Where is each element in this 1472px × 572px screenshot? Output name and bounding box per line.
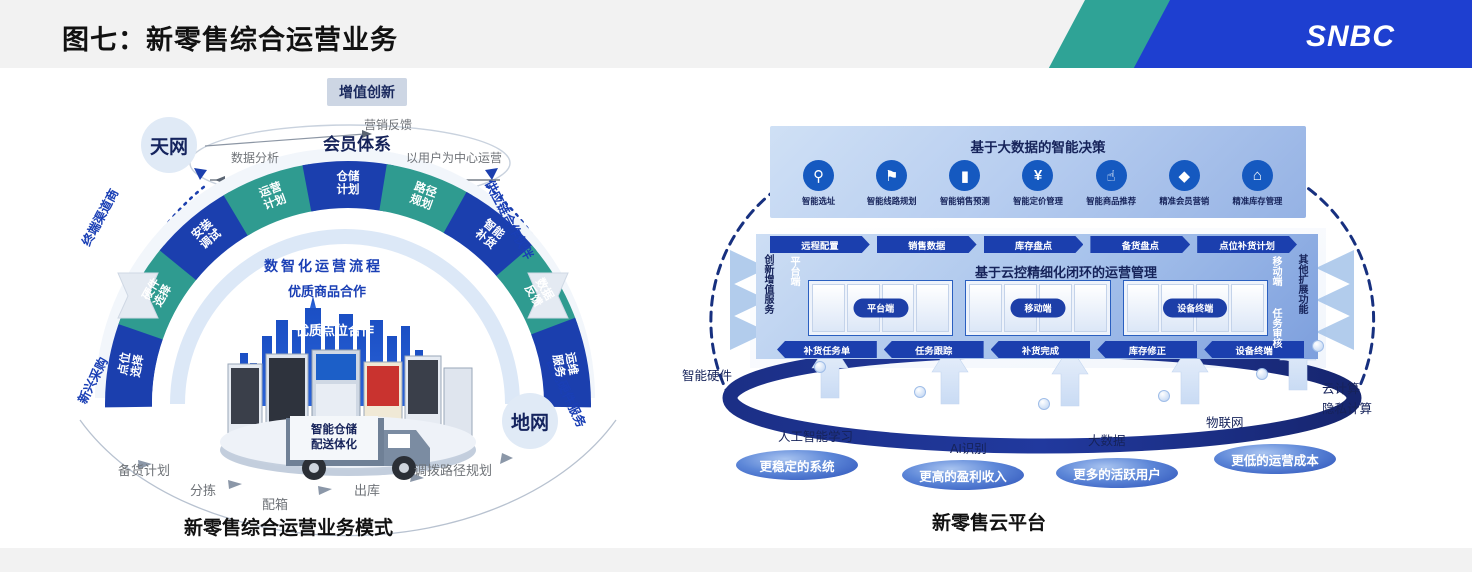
screen-mockup[interactable]: 设备终端 (1123, 280, 1268, 336)
node-dot-cloud (1312, 340, 1324, 352)
screen-mockup-label: 移动端 (1010, 299, 1065, 318)
flow-step-bottom[interactable]: 补货任务单 (777, 341, 877, 358)
decision-icon-label: 智能定价管理 (1001, 195, 1074, 207)
member-badge-icon: ◆ (1169, 160, 1200, 191)
location-pin-icon: ⚲ (803, 160, 834, 191)
smart-warehouse-badge: 智能仓储 配送体化 (290, 416, 378, 460)
smart-warehouse-line2: 配送体化 (311, 438, 357, 453)
decision-icon-label: 智能选址 (782, 195, 855, 207)
right-diagram: 基于大数据的智能决策 ⚲智能选址⚑智能线路规划▮智能销售预测¥智能定价管理☝智能… (660, 68, 1472, 548)
side-label-platform-side: 平台端 (786, 256, 801, 286)
tech-label-iot: 物联网 (1206, 412, 1244, 431)
benefit-lower-ops-cost[interactable]: 更低的运营成本 (1214, 444, 1336, 474)
flow-bottom-bar: 设备终端库存修正补货完成任务跟踪补货任务单 (770, 341, 1304, 358)
flow-step-top[interactable]: 远程配置 (770, 236, 870, 253)
flow-step-bottom[interactable]: 补货完成 (991, 341, 1091, 358)
tech-label-cloud-computing: 云计算 (1322, 378, 1360, 397)
big-data-decision-panel: 基于大数据的智能决策 ⚲智能选址⚑智能线路规划▮智能销售预测¥智能定价管理☝智能… (770, 126, 1306, 218)
bottom-flow-transfer-route: 调拨路径规划 (414, 460, 492, 479)
flow-user-centric-ops: 以用户为中心运营 (406, 149, 502, 166)
flow-step-top[interactable]: 销售数据 (877, 236, 977, 253)
cloud-ops-title: 基于云控精细化闭环的运营管理 (660, 262, 1472, 281)
route-pins-icon: ⚑ (876, 160, 907, 191)
node-dot-ai-recognition (1038, 398, 1050, 410)
ground-net-circle: 地网 (502, 393, 558, 449)
right-diagram-caption: 新零售云平台 (932, 508, 1046, 535)
side-label-task-review: 任务审核 (1268, 308, 1283, 348)
member-system-label: 会员体系 (323, 130, 391, 155)
tech-label-ai-learning: 人工智能学习 (778, 426, 853, 445)
side-label-mobile-side: 移动端 (1268, 256, 1283, 286)
decision-icon-label: 精准会员营销 (1148, 195, 1221, 207)
decision-icon-item[interactable]: ¥智能定价管理 (1001, 160, 1074, 207)
decision-icon-item[interactable]: ⌂精准库存管理 (1221, 160, 1294, 207)
decision-icon-item[interactable]: ⚲智能选址 (782, 160, 855, 207)
bar-chart-icon: ▮ (949, 160, 980, 191)
ring-label-site-cooperation: 优质点位合作 (296, 320, 374, 339)
decision-icon-label: 精准库存管理 (1221, 195, 1294, 207)
bottom-flow-outbound: 出库 (354, 480, 380, 499)
bottom-flow-boxing: 配箱 (262, 494, 288, 513)
left-diagram-caption: 新零售综合运营业务模式 (184, 513, 393, 540)
flow-step-bottom[interactable]: 任务跟踪 (884, 341, 984, 358)
flow-marketing-feedback: 营销反馈 (364, 116, 412, 133)
tech-label-smart-hardware: 智能硬件 (682, 365, 732, 384)
page-title: 图七：新零售综合运营业务 (62, 18, 398, 57)
decision-icon-row: ⚲智能选址⚑智能线路规划▮智能销售预测¥智能定价管理☝智能商品推荐◆精准会员营销… (770, 160, 1306, 207)
flow-step-top[interactable]: 备货盘点 (1090, 236, 1190, 253)
screens-row: 平台端移动端设备终端 (808, 280, 1268, 336)
benefit-stable-system[interactable]: 更稳定的系统 (736, 450, 858, 480)
page-header: 图七：新零售综合运营业务 SNBC (0, 0, 1472, 68)
flow-step-top[interactable]: 库存盘点 (984, 236, 1084, 253)
flow-step-bottom[interactable]: 设备终端 (1204, 341, 1304, 358)
screen-mockup[interactable]: 平台端 (808, 280, 953, 336)
decision-icon-label: 智能销售预测 (928, 195, 1001, 207)
snbc-logo: SNBC (1306, 20, 1395, 54)
tech-label-big-data: 大数据 (1088, 430, 1126, 449)
decision-icon-item[interactable]: ☝智能商品推荐 (1075, 160, 1148, 207)
tech-label-privacy-computing: 隐私计算 (1322, 398, 1372, 417)
decision-icon-item[interactable]: ◆精准会员营销 (1148, 160, 1221, 207)
benefit-more-active-users[interactable]: 更多的活跃用户 (1056, 458, 1178, 488)
node-dot-big-data (1158, 390, 1170, 402)
ring-label-goods-cooperation: 优质商品合作 (288, 281, 366, 300)
side-label-innovation-service: 创新增值服务 (760, 254, 775, 314)
flow-top-bar: 远程配置销售数据库存盘点备货盘点点位补货计划 (770, 236, 1304, 253)
screen-mockup-label: 设备终端 (1163, 299, 1227, 318)
benefit-higher-profit[interactable]: 更高的盈利收入 (902, 460, 1024, 490)
decision-icon-item[interactable]: ▮智能销售预测 (928, 160, 1001, 207)
bottom-flow-stock-plan: 备货计划 (118, 460, 170, 479)
thumbs-up-icon: ☝ (1096, 160, 1127, 191)
screen-mockup[interactable]: 移动端 (965, 280, 1110, 336)
footer-band (0, 548, 1472, 572)
decision-icon-label: 智能商品推荐 (1075, 195, 1148, 207)
warehouse-icon: ⌂ (1242, 160, 1273, 191)
flow-step-bottom[interactable]: 库存修正 (1097, 341, 1197, 358)
decision-icon-label: 智能线路规划 (855, 195, 928, 207)
smart-warehouse-line1: 智能仓储 (311, 423, 357, 438)
arc-segment-label: 仓储计划 (330, 171, 366, 197)
bottom-flow-sorting: 分拣 (190, 480, 216, 499)
left-diagram: 增值创新 天网 地网 会员体系 营销反馈 数据分析 以用户为中心运营 终端渠道商… (0, 68, 690, 548)
flow-step-top[interactable]: 点位补货计划 (1197, 236, 1297, 253)
sky-net-circle: 天网 (141, 117, 197, 173)
screen-mockup-label: 平台端 (853, 299, 908, 318)
header-blue-block (1134, 0, 1472, 68)
flow-data-analysis: 数据分析 (231, 149, 279, 166)
diagram-stage: 增值创新 天网 地网 会员体系 营销反馈 数据分析 以用户为中心运营 终端渠道商… (0, 68, 1472, 548)
value-innovation-tag: 增值创新 (327, 78, 407, 106)
side-label-other-extensions: 其他扩展功能 (1294, 254, 1309, 314)
big-data-decision-title: 基于大数据的智能决策 (770, 136, 1306, 156)
ring-label-digital-ops: 数智化运营流程 (264, 256, 383, 276)
decision-icon-item[interactable]: ⚑智能线路规划 (855, 160, 928, 207)
yen-currency-icon: ¥ (1022, 160, 1053, 191)
node-dot-iot (1256, 368, 1268, 380)
node-dot-smart-hardware (814, 361, 826, 373)
tech-label-ai-recognition: AI识别 (950, 438, 987, 457)
node-dot-ai-learning (914, 386, 926, 398)
